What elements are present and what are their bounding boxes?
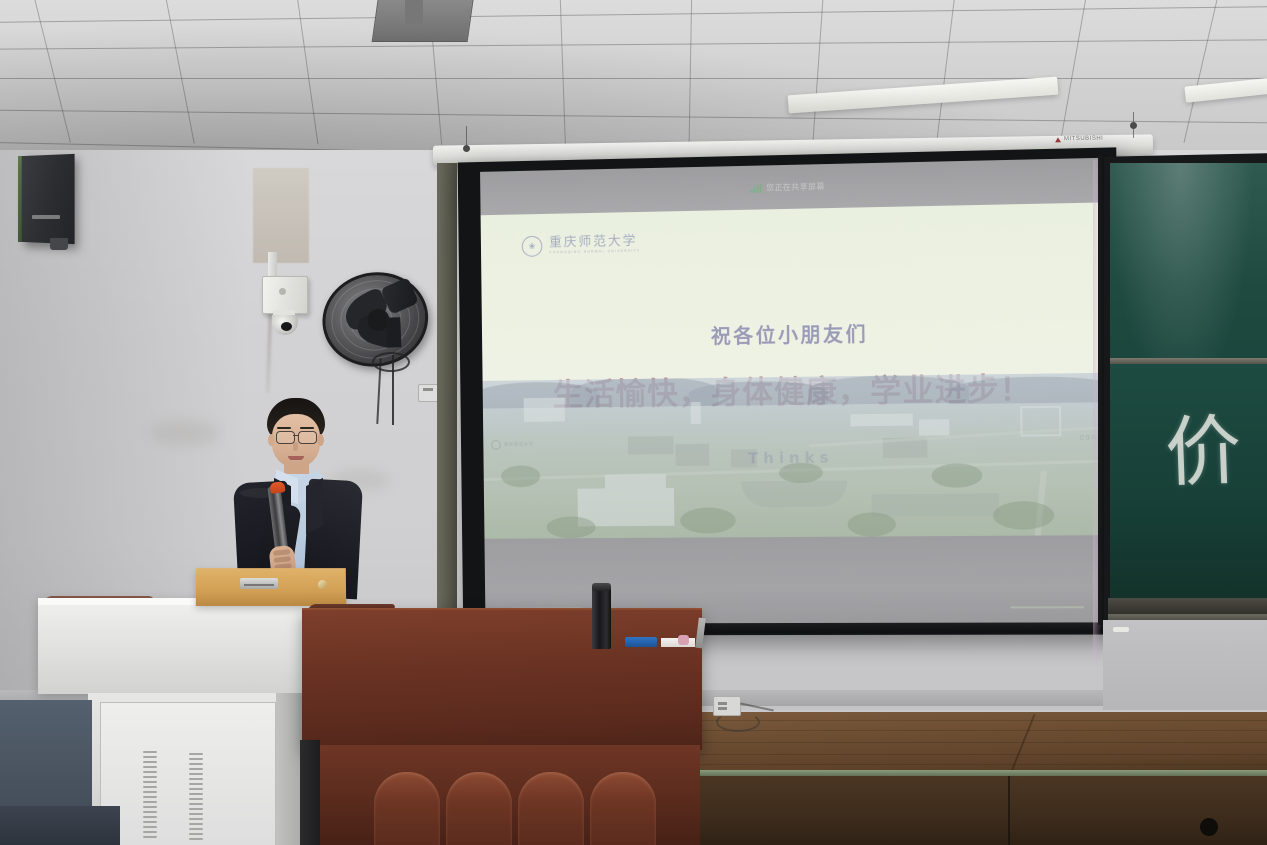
camera-lens — [281, 322, 292, 331]
screen-hanger-hook — [1130, 122, 1137, 129]
presenter-mouth — [288, 456, 304, 460]
black-thermos[interactable] — [592, 585, 611, 649]
fan-pull-cord-loop[interactable] — [372, 352, 410, 372]
screen-left-bezel — [437, 163, 457, 633]
speaker-badge — [32, 215, 60, 219]
desk-arch-panel — [590, 772, 656, 845]
desk-leg — [300, 740, 320, 845]
photo-watermark-left: 重庆师范大学 — [491, 440, 534, 450]
mitsubishi-diamond-icon: MITSUBISHI — [1055, 136, 1103, 143]
camera-housing — [262, 276, 308, 314]
classroom-presentation-scene: MITSUBISHI 您正在共享屏幕 ❀ 重庆师范大学 CHONGQING NO… — [0, 0, 1267, 845]
signal-bars-icon — [750, 183, 761, 192]
screen-share-status: 您正在共享屏幕 — [766, 181, 825, 193]
eyeglasses-bridge — [293, 435, 298, 436]
fan-mount-arm — [386, 317, 401, 347]
presenter-nose — [293, 442, 298, 451]
av-console-top — [38, 598, 330, 694]
power-cable — [716, 712, 760, 732]
wall-below-blackboard — [1103, 620, 1267, 710]
screen-hanger-hook — [463, 145, 470, 152]
desk-arch-panel — [446, 772, 512, 845]
university-name-en: CHONGQING NORMAL UNIVERSITY — [549, 250, 640, 255]
lectern-slot-line — [244, 584, 274, 586]
projection-screen[interactable]: 您正在共享屏幕 ❀ 重庆师范大学 CHONGQING NORMAL UNIVER… — [458, 147, 1123, 635]
watermark-text: 重庆师范大学 — [504, 442, 534, 448]
university-logo: ❀ 重庆师范大学 CHONGQING NORMAL UNIVERSITY — [522, 234, 641, 257]
console-vent-slots — [143, 751, 157, 838]
wall-mounted-fan — [315, 265, 429, 371]
speaker-bracket — [50, 238, 68, 250]
pink-item[interactable] — [678, 635, 689, 645]
dark-wood-desk — [302, 610, 702, 750]
watermark-seal-icon — [491, 440, 501, 450]
far-desk-panel-seam — [1008, 776, 1010, 845]
footer-tick — [1010, 606, 1084, 608]
campus-aerial-photo: 重庆师范大学 正在浏览 — [483, 373, 1108, 539]
eyeglasses-icon — [298, 431, 317, 444]
far-desk-cable-hole — [1200, 818, 1218, 836]
wall-smudge — [150, 420, 220, 446]
lectern-lock[interactable] — [318, 580, 327, 589]
wall-speaker — [22, 154, 75, 244]
fan-pull-cord[interactable] — [392, 355, 394, 425]
presenter-ear — [268, 434, 275, 446]
projected-slide: 您正在共享屏幕 ❀ 重庆师范大学 CHONGQING NORMAL UNIVER… — [480, 158, 1109, 624]
slide-body: ❀ 重庆师范大学 CHONGQING NORMAL UNIVERSITY 祝各位… — [481, 202, 1109, 623]
chalk-writing: 价 — [1163, 389, 1243, 502]
microphone-windscreen — [269, 481, 285, 494]
university-seal-icon: ❀ — [522, 236, 543, 257]
presenter-eyebrow — [277, 427, 291, 429]
presenter-eyebrow — [300, 427, 314, 429]
university-name-cn: 重庆师范大学 — [549, 235, 640, 250]
floor — [0, 806, 120, 845]
wall-switch-slot — [423, 388, 433, 391]
blue-box[interactable] — [625, 637, 657, 647]
far-wood-desk — [700, 712, 1267, 774]
eyeglasses-icon — [276, 431, 295, 444]
av-console-door[interactable] — [100, 702, 276, 845]
desk-arch-panel — [518, 772, 584, 845]
console-vent-slots — [189, 753, 203, 840]
slide-heading: 祝各位小朋友们 — [482, 314, 1105, 352]
housing-brand-label: MITSUBISHI — [1064, 136, 1103, 143]
wall-patch — [253, 168, 309, 263]
presenter-ear — [317, 434, 324, 446]
thermos-cap[interactable] — [592, 583, 611, 591]
far-desk-front-panel — [700, 776, 1267, 845]
jacket-lapel — [306, 478, 323, 534]
chalk-stick[interactable] — [1113, 627, 1129, 632]
camera-screw — [279, 288, 286, 295]
desk-arch-panel — [374, 772, 440, 845]
